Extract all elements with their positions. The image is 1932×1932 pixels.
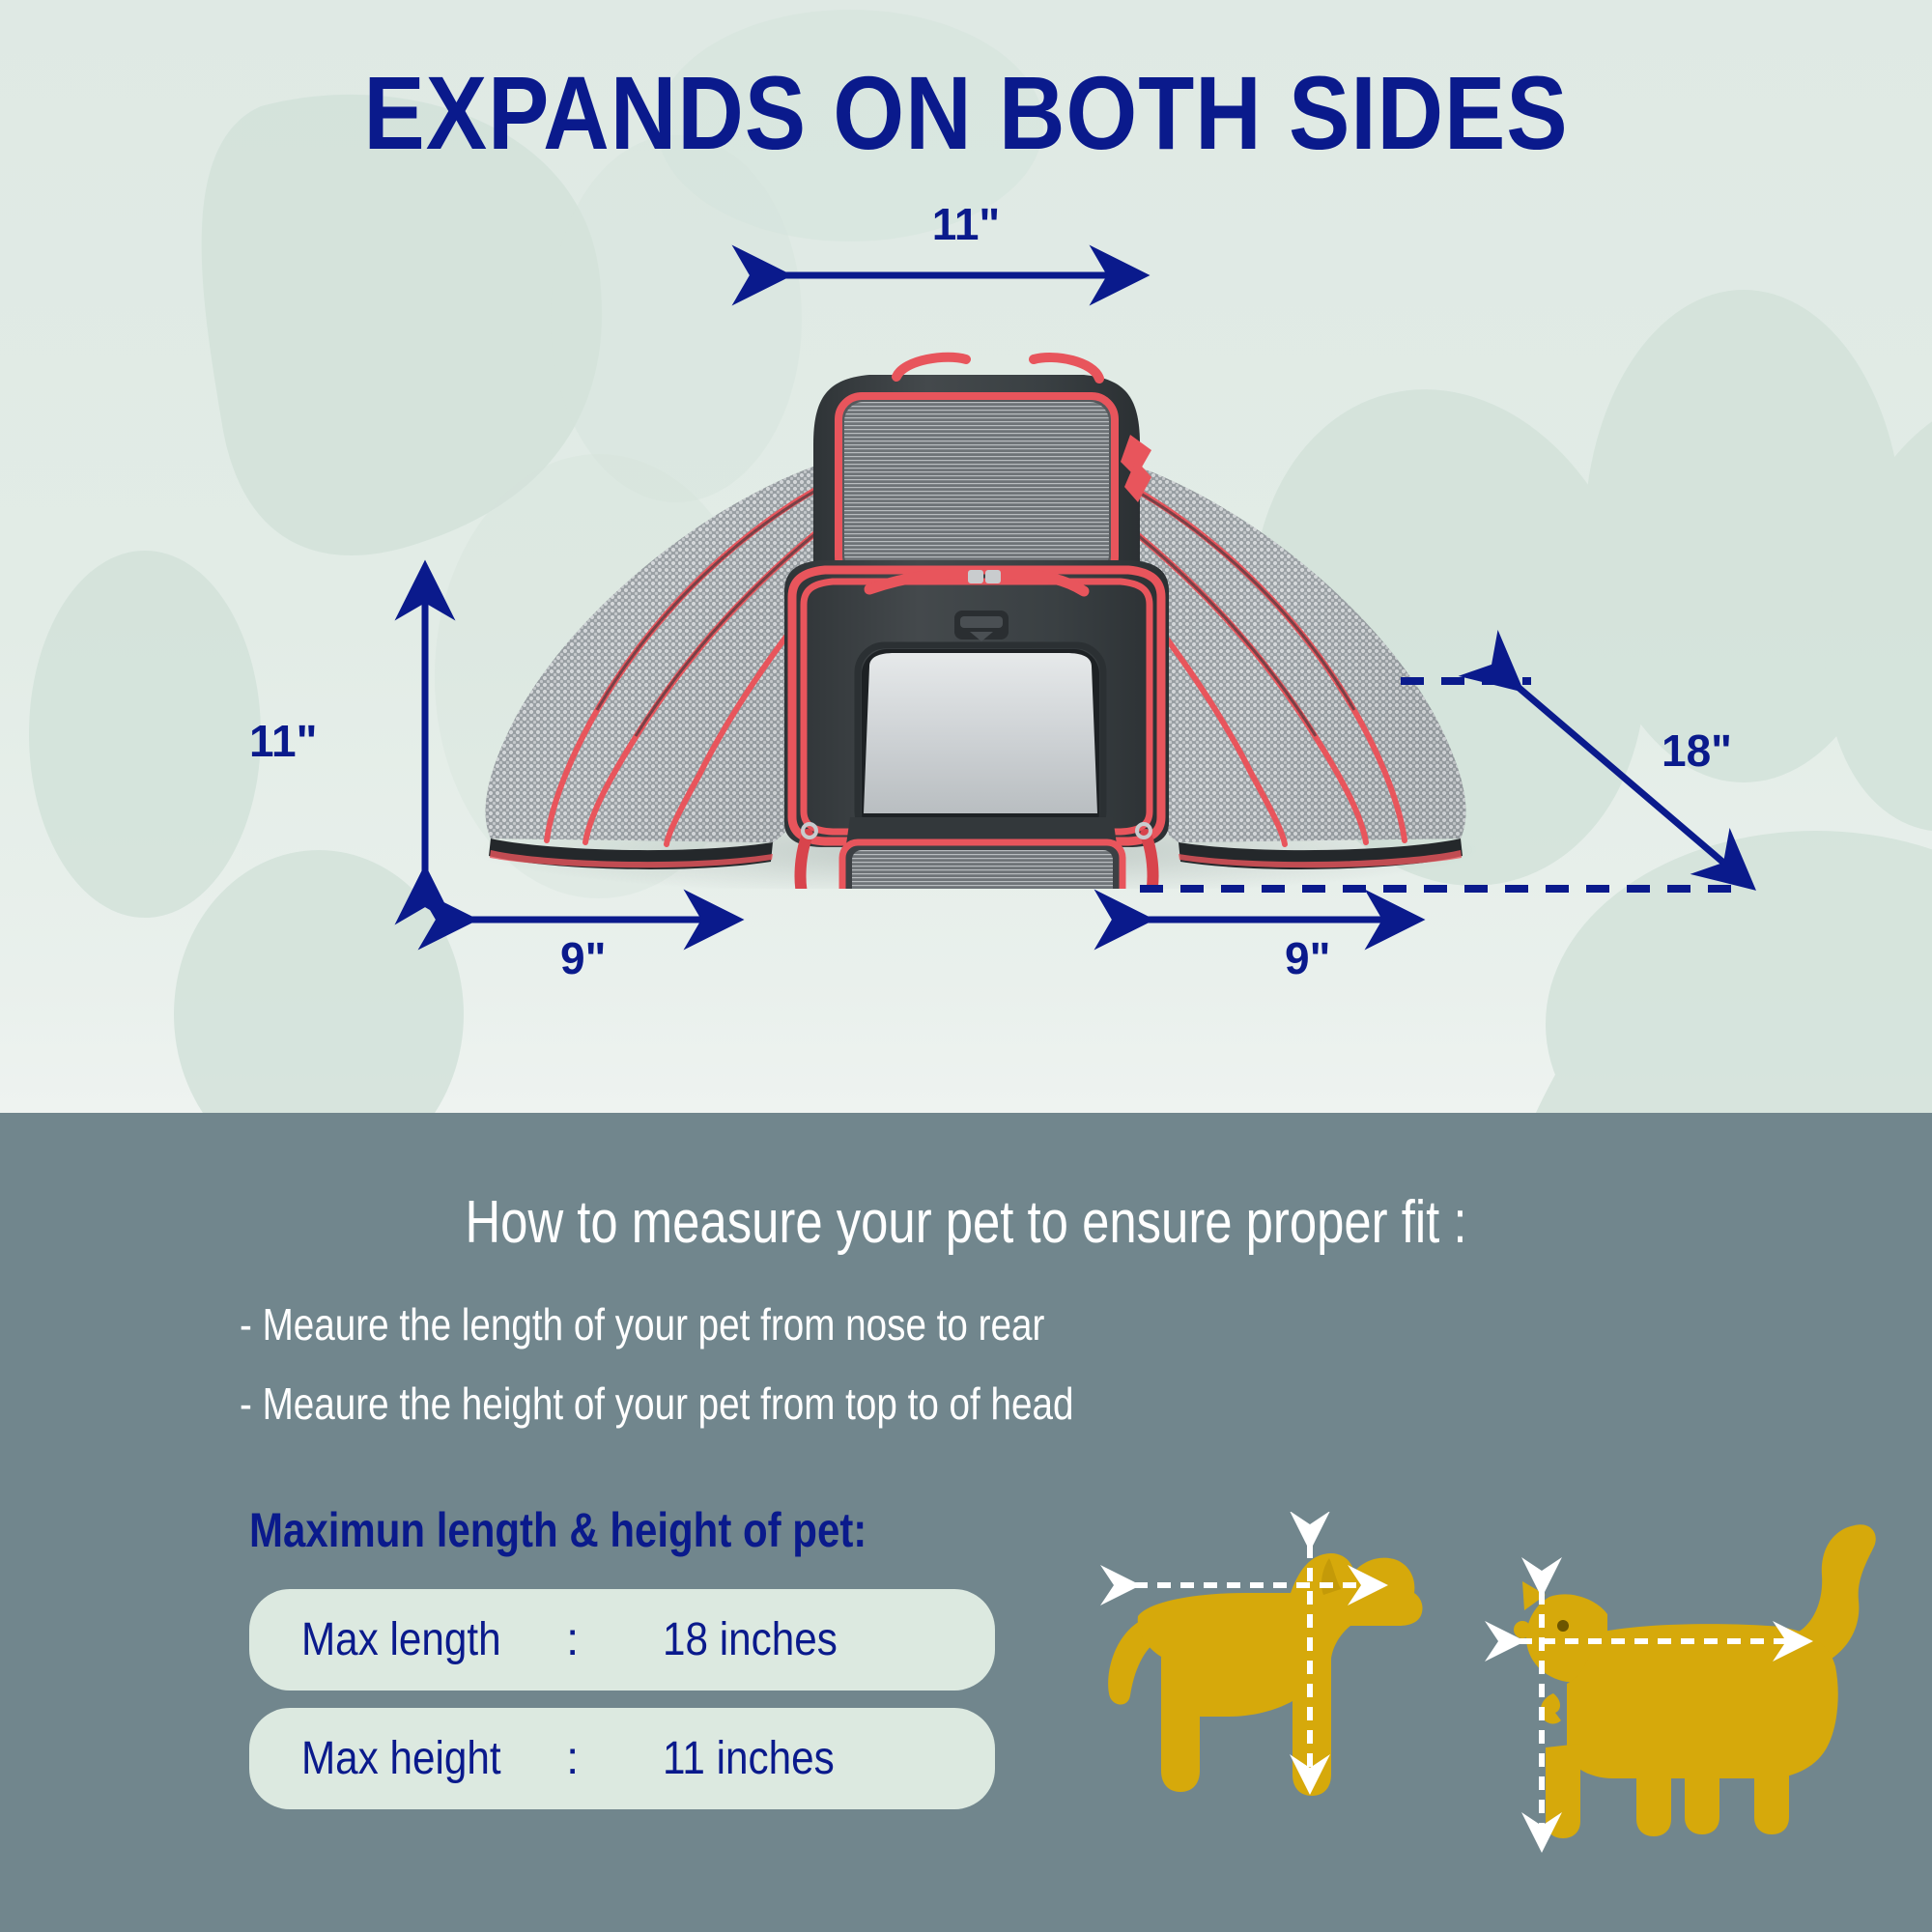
dimension-label-diagonal: 18" — [1662, 724, 1732, 777]
dog-silhouette-icon — [1108, 1553, 1422, 1796]
spec-table: Max length : 18 inches Max height : 11 i… — [249, 1589, 995, 1827]
list-item: - Meaure the height of your pet from top… — [240, 1381, 1457, 1426]
dimension-label-left-depth: 9" — [560, 932, 606, 984]
spec-table-title: Maximun length & height of pet: — [249, 1502, 867, 1558]
spec-colon: : — [566, 1613, 579, 1666]
measure-heading: How to measure your pet to ensure proper… — [174, 1188, 1758, 1257]
pet-measurement-icons — [1092, 1512, 1922, 1898]
dimension-label-top-width: 11" — [0, 198, 1932, 250]
infographic-page: EXPANDS ON BOTH SIDES — [0, 0, 1932, 1932]
table-row: Max length : 18 inches — [249, 1589, 995, 1690]
arrow-diagonal-length — [1517, 686, 1748, 884]
spec-value: 11 inches — [663, 1732, 835, 1785]
spec-key: Max height — [301, 1732, 501, 1785]
cat-silhouette-icon — [1514, 1524, 1876, 1838]
spec-key: Max length — [301, 1613, 501, 1666]
list-item: - Meaure the length of your pet from nos… — [240, 1302, 1457, 1347]
hero-section: EXPANDS ON BOTH SIDES — [0, 0, 1932, 1113]
dimension-arrows — [0, 0, 1932, 1113]
dimension-label-right-depth: 9" — [1285, 932, 1330, 984]
measure-bullet-list: - Meaure the length of your pet from nos… — [240, 1302, 1689, 1461]
spec-colon: : — [566, 1732, 579, 1785]
dimension-label-left-height: 11" — [249, 715, 317, 767]
spec-value: 18 inches — [663, 1613, 838, 1666]
table-row: Max height : 11 inches — [249, 1708, 995, 1809]
